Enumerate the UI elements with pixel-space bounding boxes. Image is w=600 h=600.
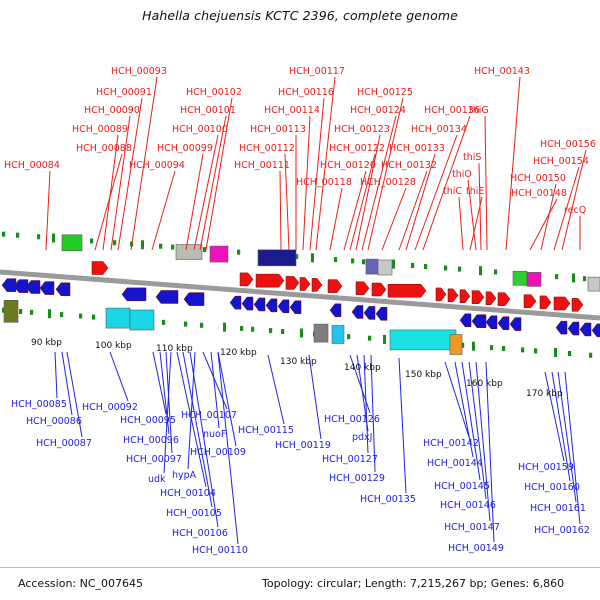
gene-label-reverse[interactable]: HCH_00146 [440,500,496,511]
gene-label-forward[interactable]: HCH_00156 [540,139,596,150]
gene-label-reverse[interactable]: HCH_00115 [238,425,294,436]
gene-label-reverse[interactable]: HCH_00096 [123,435,179,446]
gene-arrow-reverse[interactable] [254,298,265,311]
strand-marker-tick [334,257,337,262]
strand-marker-tick [555,274,558,279]
gene-arrow-reverse[interactable] [2,279,16,292]
gene-arrow-reverse[interactable] [242,297,253,310]
feature-box[interactable] [390,330,456,350]
feature-box[interactable] [588,277,600,291]
gene-label-forward[interactable]: HCH_00133 [389,143,445,154]
label-leader-line [530,199,557,250]
gene-label-reverse[interactable]: nuoF [203,429,226,440]
gene-label-forward[interactable]: HCH_00132 [381,160,437,171]
feature-box[interactable] [258,250,296,266]
gene-arrow-reverse[interactable] [278,300,289,313]
gene-label-forward[interactable]: HCH_00113 [250,124,306,135]
gene-label-forward[interactable]: HCH_00134 [411,124,467,135]
gene-label-reverse[interactable]: HCH_00159 [518,462,574,473]
gene-arrow-forward[interactable] [312,278,322,291]
label-leader-line [110,352,128,401]
gene-label-reverse[interactable]: pdxJ [352,432,372,443]
gene-label-reverse[interactable]: HCH_00110 [192,545,248,556]
gene-arrow-reverse[interactable] [290,301,301,314]
ruler-tick-label: 160 kbp [466,379,503,389]
gene-arrow-reverse[interactable] [40,282,54,295]
gene-arrow-reverse[interactable] [266,299,277,312]
gene-arrow-reverse[interactable] [122,288,146,301]
accession-text: Accession: NC_007645 [18,577,143,590]
feature-box[interactable] [106,308,130,328]
strand-marker-tick [240,326,243,331]
label-leader-line [309,355,321,439]
ruler-tick-label: 90 kbp [31,338,62,348]
strand-marker-tick [502,346,505,351]
gene-arrow-forward[interactable] [472,291,484,304]
gene-label-forward[interactable]: HCH_00111 [234,160,290,171]
gene-label-forward[interactable]: HCH_00094 [129,160,185,171]
gene-label-forward[interactable]: HCH_00118 [296,177,352,188]
gene-arrow-forward[interactable] [498,293,510,306]
strand-marker-tick [48,309,51,318]
gene-arrow-forward[interactable] [554,297,570,310]
label-leader-line [485,116,487,250]
gene-label-forward[interactable]: recQ [564,205,586,216]
gene-label-reverse[interactable]: HCH_00126 [324,414,380,425]
strand-marker-tick [479,266,482,275]
gene-label-forward[interactable]: HCH_00123 [334,124,390,135]
strand-marker-tick [113,240,116,245]
gene-arrow-forward[interactable] [572,298,583,311]
gene-label-reverse[interactable]: HCH_00085 [11,399,67,410]
feature-box[interactable] [4,300,18,322]
gene-arrow-reverse[interactable] [580,323,591,336]
strand-marker-tick [490,345,493,350]
strand-marker-tick [411,263,414,268]
strand-marker-tick [141,240,144,249]
gene-arrow-reverse[interactable] [156,290,178,303]
strand-marker-tick [494,269,497,274]
gene-label-reverse[interactable]: HCH_00149 [448,543,504,554]
strand-marker-tick [534,348,537,353]
strand-marker-tick [281,329,284,334]
gene-label-forward[interactable]: HCH_00120 [320,160,376,171]
gene-label-forward[interactable]: HCH_00101 [180,105,236,116]
gene-arrow-reverse[interactable] [460,314,471,327]
gene-arrow-forward[interactable] [524,295,536,308]
gene-label-forward[interactable]: HCH_00154 [533,156,589,167]
gene-label-reverse[interactable]: HCH_00162 [534,525,590,536]
gene-label-reverse[interactable]: HCH_00105 [166,508,222,519]
label-leader-line [280,171,281,250]
strand-marker-tick [368,336,371,341]
gene-arrow-reverse[interactable] [230,296,241,309]
gene-arrow-reverse[interactable] [498,317,509,330]
strand-marker-tick [444,266,447,271]
strand-marker-tick [184,322,187,327]
gene-label-forward[interactable]: HCH_00112 [239,143,295,154]
strand-marker-tick [162,320,165,325]
gene-label-forward[interactable]: HCH_00143 [474,66,530,77]
gene-label-reverse[interactable]: hypA [172,470,197,481]
strand-marker-tick [92,315,95,320]
strand-marker-tick [79,314,82,319]
label-leader-line [506,77,520,250]
label-leader-line [186,154,203,250]
label-leader-line [310,98,324,250]
ruler-tick-label: 130 kbp [280,357,317,367]
label-leader-line [423,116,470,250]
gene-arrow-forward[interactable] [388,284,426,297]
gene-label-forward[interactable]: HCH_00117 [289,66,345,77]
gene-arrow-reverse[interactable] [568,322,579,335]
strand-marker-tick [237,250,240,255]
strand-marker-tick [300,329,303,338]
gene-label-reverse[interactable]: HCH_00107 [181,410,237,421]
strand-marker-tick [16,233,19,238]
gene-label-reverse[interactable]: HCH_00092 [82,402,138,413]
gene-arrow-forward[interactable] [460,290,470,303]
gene-label-reverse[interactable]: HCH_00160 [524,482,580,493]
label-leader-line [55,352,57,398]
gene-arrow-reverse[interactable] [56,283,70,296]
gene-label-forward[interactable]: HCH_00093 [111,66,167,77]
label-leader-line [153,352,166,414]
gene-label-forward[interactable]: HCH_00090 [84,105,140,116]
gene-label-forward[interactable]: thiC [443,186,462,197]
gene-label-forward[interactable]: HCH_00150 [510,173,566,184]
ruler-tick-label: 110 kbp [156,344,193,354]
gene-arrow-reverse[interactable] [472,315,486,328]
label-leader-line [479,163,481,250]
genome-browser-view: Hahella chejuensis KCTC 2396, complete g… [0,0,600,600]
feature-box[interactable] [62,235,82,251]
strand-marker-tick [472,342,475,351]
gene-label-forward[interactable]: HCH_00116 [278,87,334,98]
gene-label-reverse[interactable]: HCH_00147 [444,522,500,533]
strand-marker-tick [90,238,93,243]
strand-marker-tick [200,323,203,328]
strand-marker-tick [521,347,524,352]
ruler-tick-label: 150 kbp [405,370,442,380]
strand-marker-tick [583,276,586,281]
feature-box[interactable] [378,260,392,275]
gene-label-reverse[interactable]: HCH_00106 [172,528,228,539]
strand-marker-tick [347,334,350,339]
gene-label-reverse[interactable]: HCH_00087 [36,438,92,449]
gene-arrow-reverse[interactable] [352,305,363,318]
label-leader-line [368,98,403,250]
gene-label-reverse[interactable]: udk [148,474,166,485]
feature-box[interactable] [130,310,154,330]
label-leader-line [459,197,463,250]
strand-marker-tick [568,351,571,356]
gene-label-reverse[interactable]: HCH_00145 [434,481,490,492]
strand-marker-tick [37,234,40,239]
label-leader-line [152,171,175,250]
gene-label-forward[interactable]: HCH_00148 [511,188,567,199]
gene-label-reverse[interactable]: HCH_00161 [530,503,586,514]
feature-box[interactable] [450,335,462,355]
strand-marker-tick [572,273,575,282]
gene-arrow-forward[interactable] [372,283,386,296]
gene-label-forward[interactable]: HCH_00128 [360,177,416,188]
gene-label-forward[interactable]: HCH_00125 [357,87,413,98]
gene-label-forward[interactable]: thiO [452,169,472,180]
gene-label-reverse[interactable]: HCH_00086 [26,416,82,427]
gene-arrow-forward[interactable] [92,262,108,275]
strand-marker-tick [589,353,592,358]
strand-marker-tick [223,323,226,332]
gene-label-reverse[interactable]: HCH_00109 [190,447,246,458]
topology-text: Topology: circular; Length: 7,215,267 bp… [262,577,564,590]
gene-label-reverse[interactable]: HCH_00104 [160,488,216,499]
label-leader-line [565,372,580,524]
gene-arrow-forward[interactable] [240,273,253,286]
gene-label-reverse[interactable]: HCH_00129 [329,473,385,484]
gene-arrow-forward[interactable] [256,274,284,287]
feature-box[interactable] [366,259,378,274]
feature-box[interactable] [527,272,541,286]
gene-arrow-reverse[interactable] [556,321,567,334]
gene-label-reverse[interactable]: HCH_00119 [275,440,331,451]
gene-label-forward[interactable]: HCH_00088 [76,143,132,154]
gene-arrow-reverse[interactable] [510,318,521,331]
strand-marker-tick [171,245,174,250]
gene-label-forward[interactable]: HCH_00099 [157,143,213,154]
gene-arrow-forward[interactable] [328,280,342,293]
label-leader-line [486,362,494,542]
gene-label-forward[interactable]: thiS [463,152,481,163]
feature-box[interactable] [314,324,328,342]
feature-box[interactable] [210,246,228,262]
gene-arrow-reverse[interactable] [486,316,497,329]
gene-label-forward[interactable]: HCH_00100 [172,124,228,135]
strand-marker-tick [424,264,427,269]
strand-marker-tick [554,348,557,357]
gene-label-forward[interactable]: HCH_00089 [72,124,128,135]
gene-arrow-forward[interactable] [448,289,458,302]
strand-marker-tick [311,253,314,262]
strand-marker-tick [251,327,254,332]
strand-marker-tick [2,232,5,237]
ruler-tick-label: 140 kbp [344,363,381,373]
gene-arrow-forward[interactable] [540,296,551,309]
ruler-tick-label: 120 kbp [220,348,257,358]
gene-arrow-reverse[interactable] [184,293,204,306]
label-leader-line [46,171,50,250]
feature-box[interactable] [332,326,344,344]
genome-map-canvas[interactable]: HCH_00084HCH_00088HCH_00089HCH_00090HCH_… [0,0,600,600]
strand-marker-tick [458,267,461,272]
gene-arrow-reverse[interactable] [330,304,341,317]
gene-label-reverse[interactable]: HCH_00127 [322,454,378,465]
status-bar: Accession: NC_007645 Topology: circular;… [0,567,600,600]
gene-arrow-reverse[interactable] [592,324,600,337]
gene-arrow-forward[interactable] [300,278,310,291]
gene-label-forward[interactable]: HCH_00091 [96,87,152,98]
gene-label-forward[interactable]: HCH_00114 [264,105,320,116]
ruler-tick-label: 100 kbp [95,341,132,351]
gene-arrow-forward[interactable] [286,276,299,289]
gene-label-forward[interactable]: HCH_00124 [350,105,406,116]
strand-marker-tick [351,258,354,263]
label-leader-line [200,116,226,250]
strand-marker-tick [52,234,55,243]
strand-marker-tick [383,335,386,344]
feature-box[interactable] [513,271,527,285]
strand-marker-tick [60,312,63,317]
gene-arrow-forward[interactable] [356,282,369,295]
gene-arrow-reverse[interactable] [376,307,387,320]
strand-marker-tick [392,260,395,269]
feature-box[interactable] [176,245,202,260]
ruler-tick-label: 170 kbp [526,389,563,399]
gene-label-forward[interactable]: thiG [469,105,489,116]
gene-arrow-forward[interactable] [436,288,446,301]
gene-label-forward[interactable]: HCH_00102 [186,87,242,98]
strand-marker-tick [269,328,272,333]
gene-label-reverse[interactable]: HCH_00097 [126,454,182,465]
strand-marker-tick [159,244,162,249]
strand-marker-tick [19,309,22,314]
gene-label-reverse[interactable]: HCH_00144 [427,458,483,469]
gene-arrow-reverse[interactable] [364,306,375,319]
gene-label-reverse[interactable]: HCH_00135 [360,494,416,505]
label-leader-line [330,188,342,250]
strand-marker-tick [30,310,33,315]
gene-label-forward[interactable]: HCH_00084 [4,160,60,171]
strand-marker-tick [362,259,365,264]
gene-arrow-forward[interactable] [486,292,496,305]
